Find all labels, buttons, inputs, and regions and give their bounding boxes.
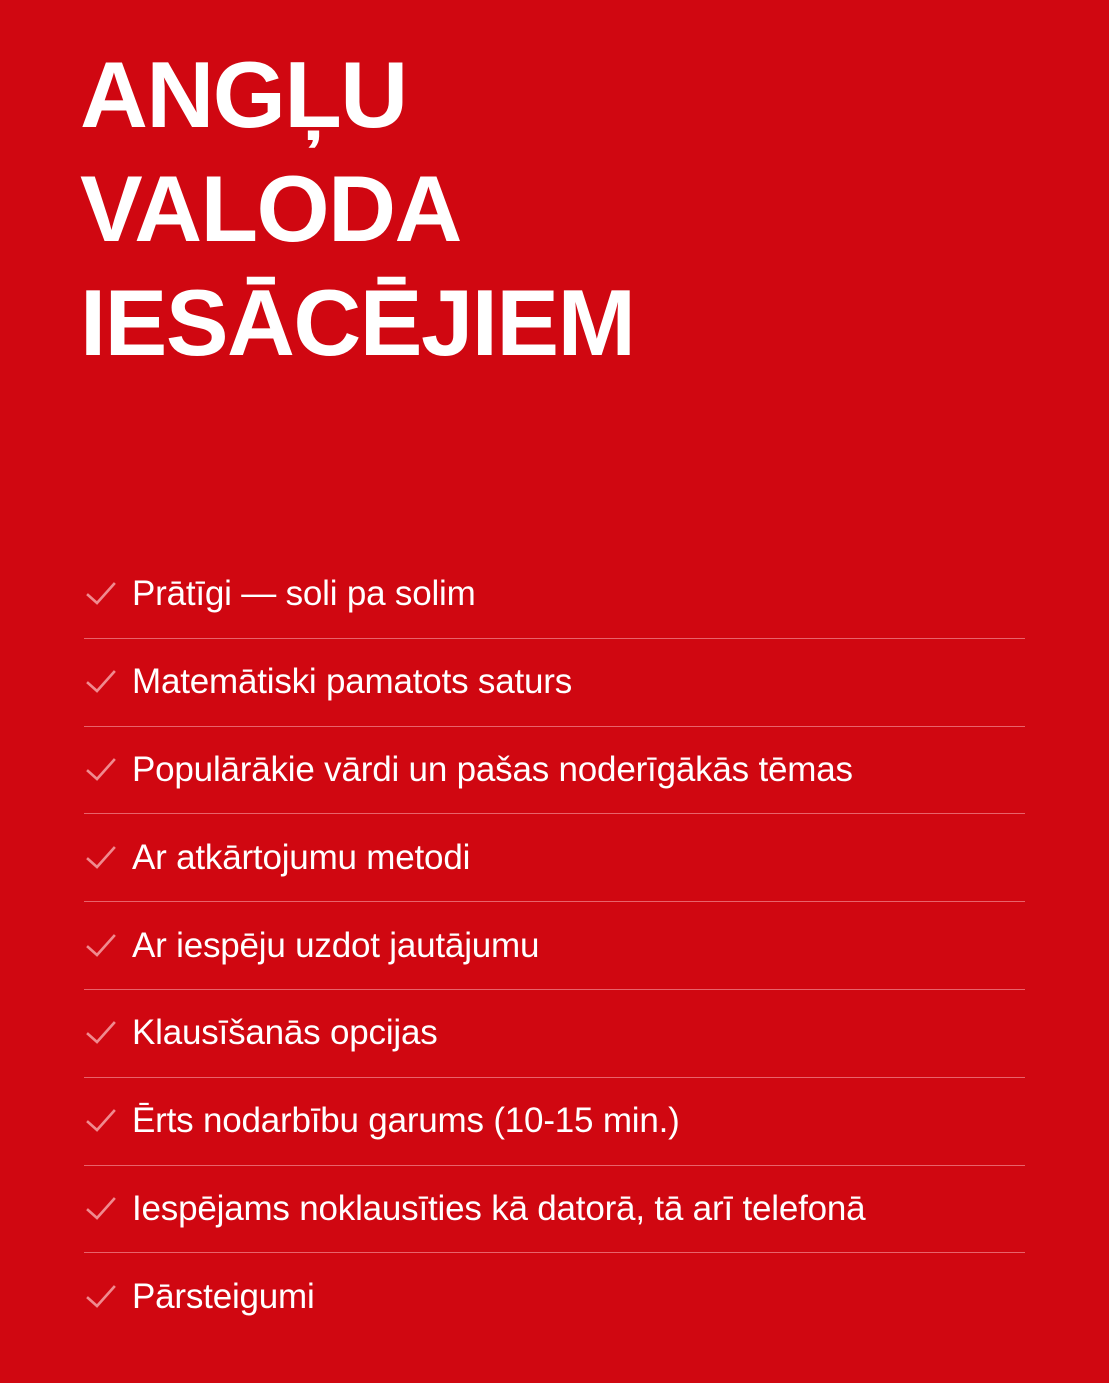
list-item-label: Ērts nodarbību garums (10-15 min.) <box>132 1101 680 1141</box>
check-icon <box>84 1016 118 1050</box>
title-line-1: ANGĻU <box>80 38 1020 152</box>
list-item-label: Populārākie vārdi un pašas noderīgākās t… <box>132 750 853 790</box>
check-icon <box>84 577 118 611</box>
list-item: Populārākie vārdi un pašas noderīgākās t… <box>84 727 1025 815</box>
list-item: Matemātiski pamatots saturs <box>84 639 1025 727</box>
list-item-label: Ar iespēju uzdot jautājumu <box>132 926 539 966</box>
check-icon <box>84 665 118 699</box>
title-line-3: IESĀCĒJIEM <box>80 266 1020 380</box>
check-icon <box>84 1104 118 1138</box>
list-item-label: Iespējams noklausīties kā datorā, tā arī… <box>132 1189 865 1229</box>
page-title: ANGĻU VALODA IESĀCĒJIEM <box>80 38 1020 380</box>
list-item: Prātīgi — soli pa solim <box>84 551 1025 639</box>
list-item: Ērts nodarbību garums (10-15 min.) <box>84 1078 1025 1166</box>
promo-card: ANGĻU VALODA IESĀCĒJIEM Prātīgi — soli p… <box>0 0 1109 1383</box>
title-line-2: VALODA <box>80 152 1020 266</box>
list-item: Klausīšanās opcijas <box>84 990 1025 1078</box>
list-item: Ar atkārtojumu metodi <box>84 814 1025 902</box>
list-item-label: Pārsteigumi <box>132 1277 315 1317</box>
check-icon <box>84 1192 118 1226</box>
check-icon <box>84 753 118 787</box>
feature-list: Prātīgi — soli pa solim Matemātiski pama… <box>84 551 1025 1341</box>
list-item: Iespējams noklausīties kā datorā, tā arī… <box>84 1166 1025 1254</box>
list-item-label: Klausīšanās opcijas <box>132 1013 438 1053</box>
list-item: Pārsteigumi <box>84 1253 1025 1341</box>
check-icon <box>84 929 118 963</box>
check-icon <box>84 841 118 875</box>
list-item-label: Prātīgi — soli pa solim <box>132 574 476 614</box>
list-item: Ar iespēju uzdot jautājumu <box>84 902 1025 990</box>
list-item-label: Matemātiski pamatots saturs <box>132 662 572 702</box>
check-icon <box>84 1280 118 1314</box>
list-item-label: Ar atkārtojumu metodi <box>132 838 470 878</box>
